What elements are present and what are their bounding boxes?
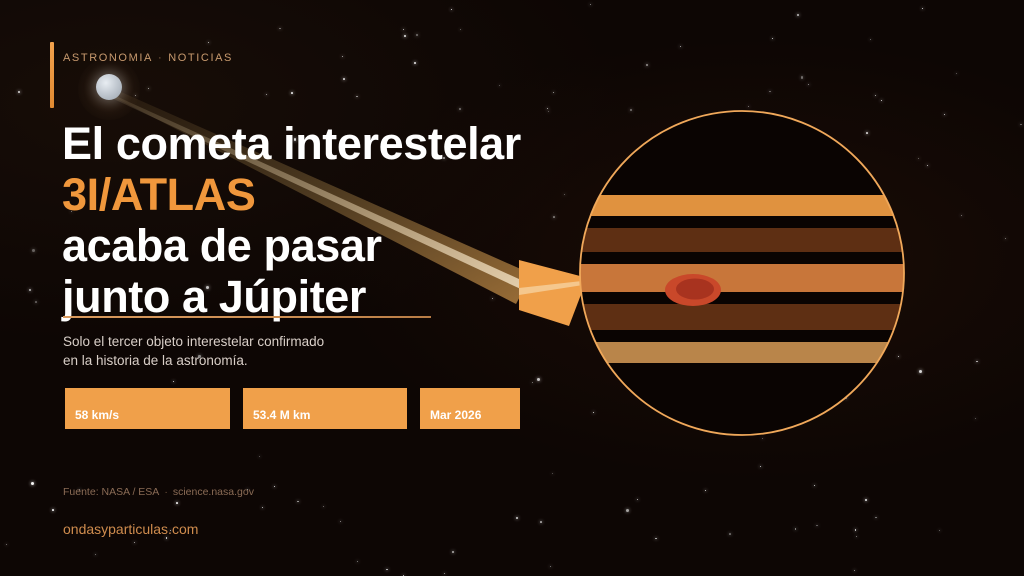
- star: [279, 28, 281, 30]
- star: [772, 38, 773, 39]
- star: [403, 29, 404, 30]
- star: [452, 551, 454, 553]
- subtitle-line-1: Solo el tercer objeto interestelar confi…: [63, 332, 463, 351]
- star: [451, 9, 452, 10]
- star: [961, 215, 962, 216]
- star: [564, 194, 565, 195]
- headline-line-3: acaba de pasar: [62, 220, 562, 271]
- star: [95, 554, 96, 555]
- star: [459, 108, 461, 110]
- star: [855, 529, 857, 531]
- star: [259, 456, 260, 457]
- star: [797, 14, 799, 16]
- star: [18, 91, 20, 93]
- star: [404, 35, 406, 37]
- star: [655, 538, 657, 540]
- comet-nucleus: [96, 74, 122, 100]
- title-divider: [63, 316, 431, 318]
- star: [553, 92, 554, 93]
- star: [135, 95, 136, 96]
- star: [532, 382, 533, 383]
- star: [297, 501, 299, 503]
- star: [550, 566, 551, 567]
- star: [342, 56, 343, 57]
- star: [939, 530, 940, 531]
- star: [637, 499, 638, 500]
- star: [540, 521, 542, 523]
- star: [547, 108, 548, 109]
- kicker-separator: ·: [158, 52, 163, 64]
- star: [922, 8, 923, 9]
- star: [29, 289, 31, 291]
- star: [975, 418, 976, 419]
- star: [918, 158, 920, 160]
- star: [927, 165, 929, 167]
- site-link[interactable]: ondasyparticulas.com: [63, 521, 198, 537]
- source-credit: Fuente: NASA / ESA·science.nasa.gov: [63, 486, 254, 498]
- star: [814, 485, 816, 487]
- kicker: ASTRONOMIA·NOTICIAS: [63, 52, 233, 64]
- star: [680, 46, 681, 47]
- star: [590, 4, 591, 5]
- star: [944, 114, 945, 115]
- star: [705, 490, 707, 492]
- star: [760, 466, 761, 467]
- star: [444, 573, 446, 575]
- star: [323, 506, 324, 507]
- star: [801, 76, 803, 78]
- headline-line-1: El cometa interestelar: [62, 118, 562, 169]
- star: [1005, 238, 1006, 239]
- headline-line-4: junto a Júpiter: [62, 271, 562, 322]
- star: [173, 381, 174, 382]
- great-red-spot: [665, 274, 721, 306]
- star: [516, 517, 518, 519]
- subtitle-line-2: en la historia de la astronomía.: [63, 351, 463, 370]
- star: [976, 361, 978, 363]
- star: [356, 96, 358, 98]
- comet-3i-atlas: [78, 58, 140, 120]
- stat-chip-distance: 53.4 M km: [243, 388, 407, 429]
- star: [865, 499, 867, 501]
- star: [769, 91, 771, 93]
- star: [357, 561, 358, 562]
- star: [729, 533, 731, 535]
- headline-line-2-accent: 3I/ATLAS: [62, 169, 562, 220]
- source-prefix: Fuente: NASA / ESA: [63, 486, 159, 498]
- star: [460, 29, 461, 30]
- poster-canvas: ASTRONOMIA·NOTICIAS El cometa interestel…: [0, 0, 1024, 576]
- stat-chip-speed-label: 58 km/s: [75, 408, 119, 422]
- star: [956, 73, 957, 74]
- page-title: El cometa interestelar 3I/ATLAS acaba de…: [62, 118, 562, 322]
- star: [499, 85, 500, 86]
- star: [208, 42, 209, 43]
- star: [646, 64, 648, 66]
- kicker-category: ASTRONOMIA: [63, 52, 153, 64]
- star: [870, 39, 871, 40]
- star: [134, 542, 135, 543]
- star: [52, 509, 54, 511]
- star: [148, 88, 149, 89]
- star: [881, 100, 882, 101]
- star: [32, 249, 35, 252]
- star: [875, 517, 877, 519]
- star: [176, 502, 178, 504]
- star: [266, 94, 267, 95]
- kicker-section: NOTICIAS: [168, 52, 233, 64]
- stat-chip-date: Mar 2026: [420, 388, 520, 429]
- subtitle: Solo el tercer objeto interestelar confi…: [63, 332, 463, 370]
- stat-chip-distance-label: 53.4 M km: [253, 408, 310, 422]
- star: [291, 92, 293, 94]
- stat-chip-speed: 58 km/s: [65, 388, 230, 429]
- star: [919, 370, 922, 373]
- star: [416, 34, 418, 36]
- star: [808, 84, 809, 85]
- star: [552, 473, 553, 474]
- star: [343, 78, 345, 80]
- accent-bar: [50, 42, 54, 108]
- star: [414, 62, 416, 64]
- star: [6, 544, 7, 545]
- star: [31, 482, 34, 485]
- star: [537, 378, 540, 381]
- star: [340, 521, 341, 522]
- star: [262, 507, 264, 509]
- star: [386, 569, 388, 571]
- star: [1020, 124, 1022, 126]
- source-url: science.nasa.gov: [173, 486, 254, 498]
- stat-chip-group: 58 km/s 53.4 M km Mar 2026: [65, 388, 520, 429]
- star: [875, 95, 876, 96]
- star: [854, 570, 856, 572]
- comet-glow: [78, 58, 140, 120]
- stat-chip-date-label: Mar 2026: [430, 408, 481, 422]
- star: [626, 509, 629, 512]
- star: [856, 536, 857, 537]
- star: [274, 486, 275, 487]
- star: [795, 528, 797, 530]
- star: [35, 301, 37, 303]
- source-separator: ·: [164, 486, 168, 498]
- star: [166, 537, 168, 539]
- jupiter: [577, 108, 907, 438]
- star: [548, 111, 549, 112]
- star: [816, 525, 818, 527]
